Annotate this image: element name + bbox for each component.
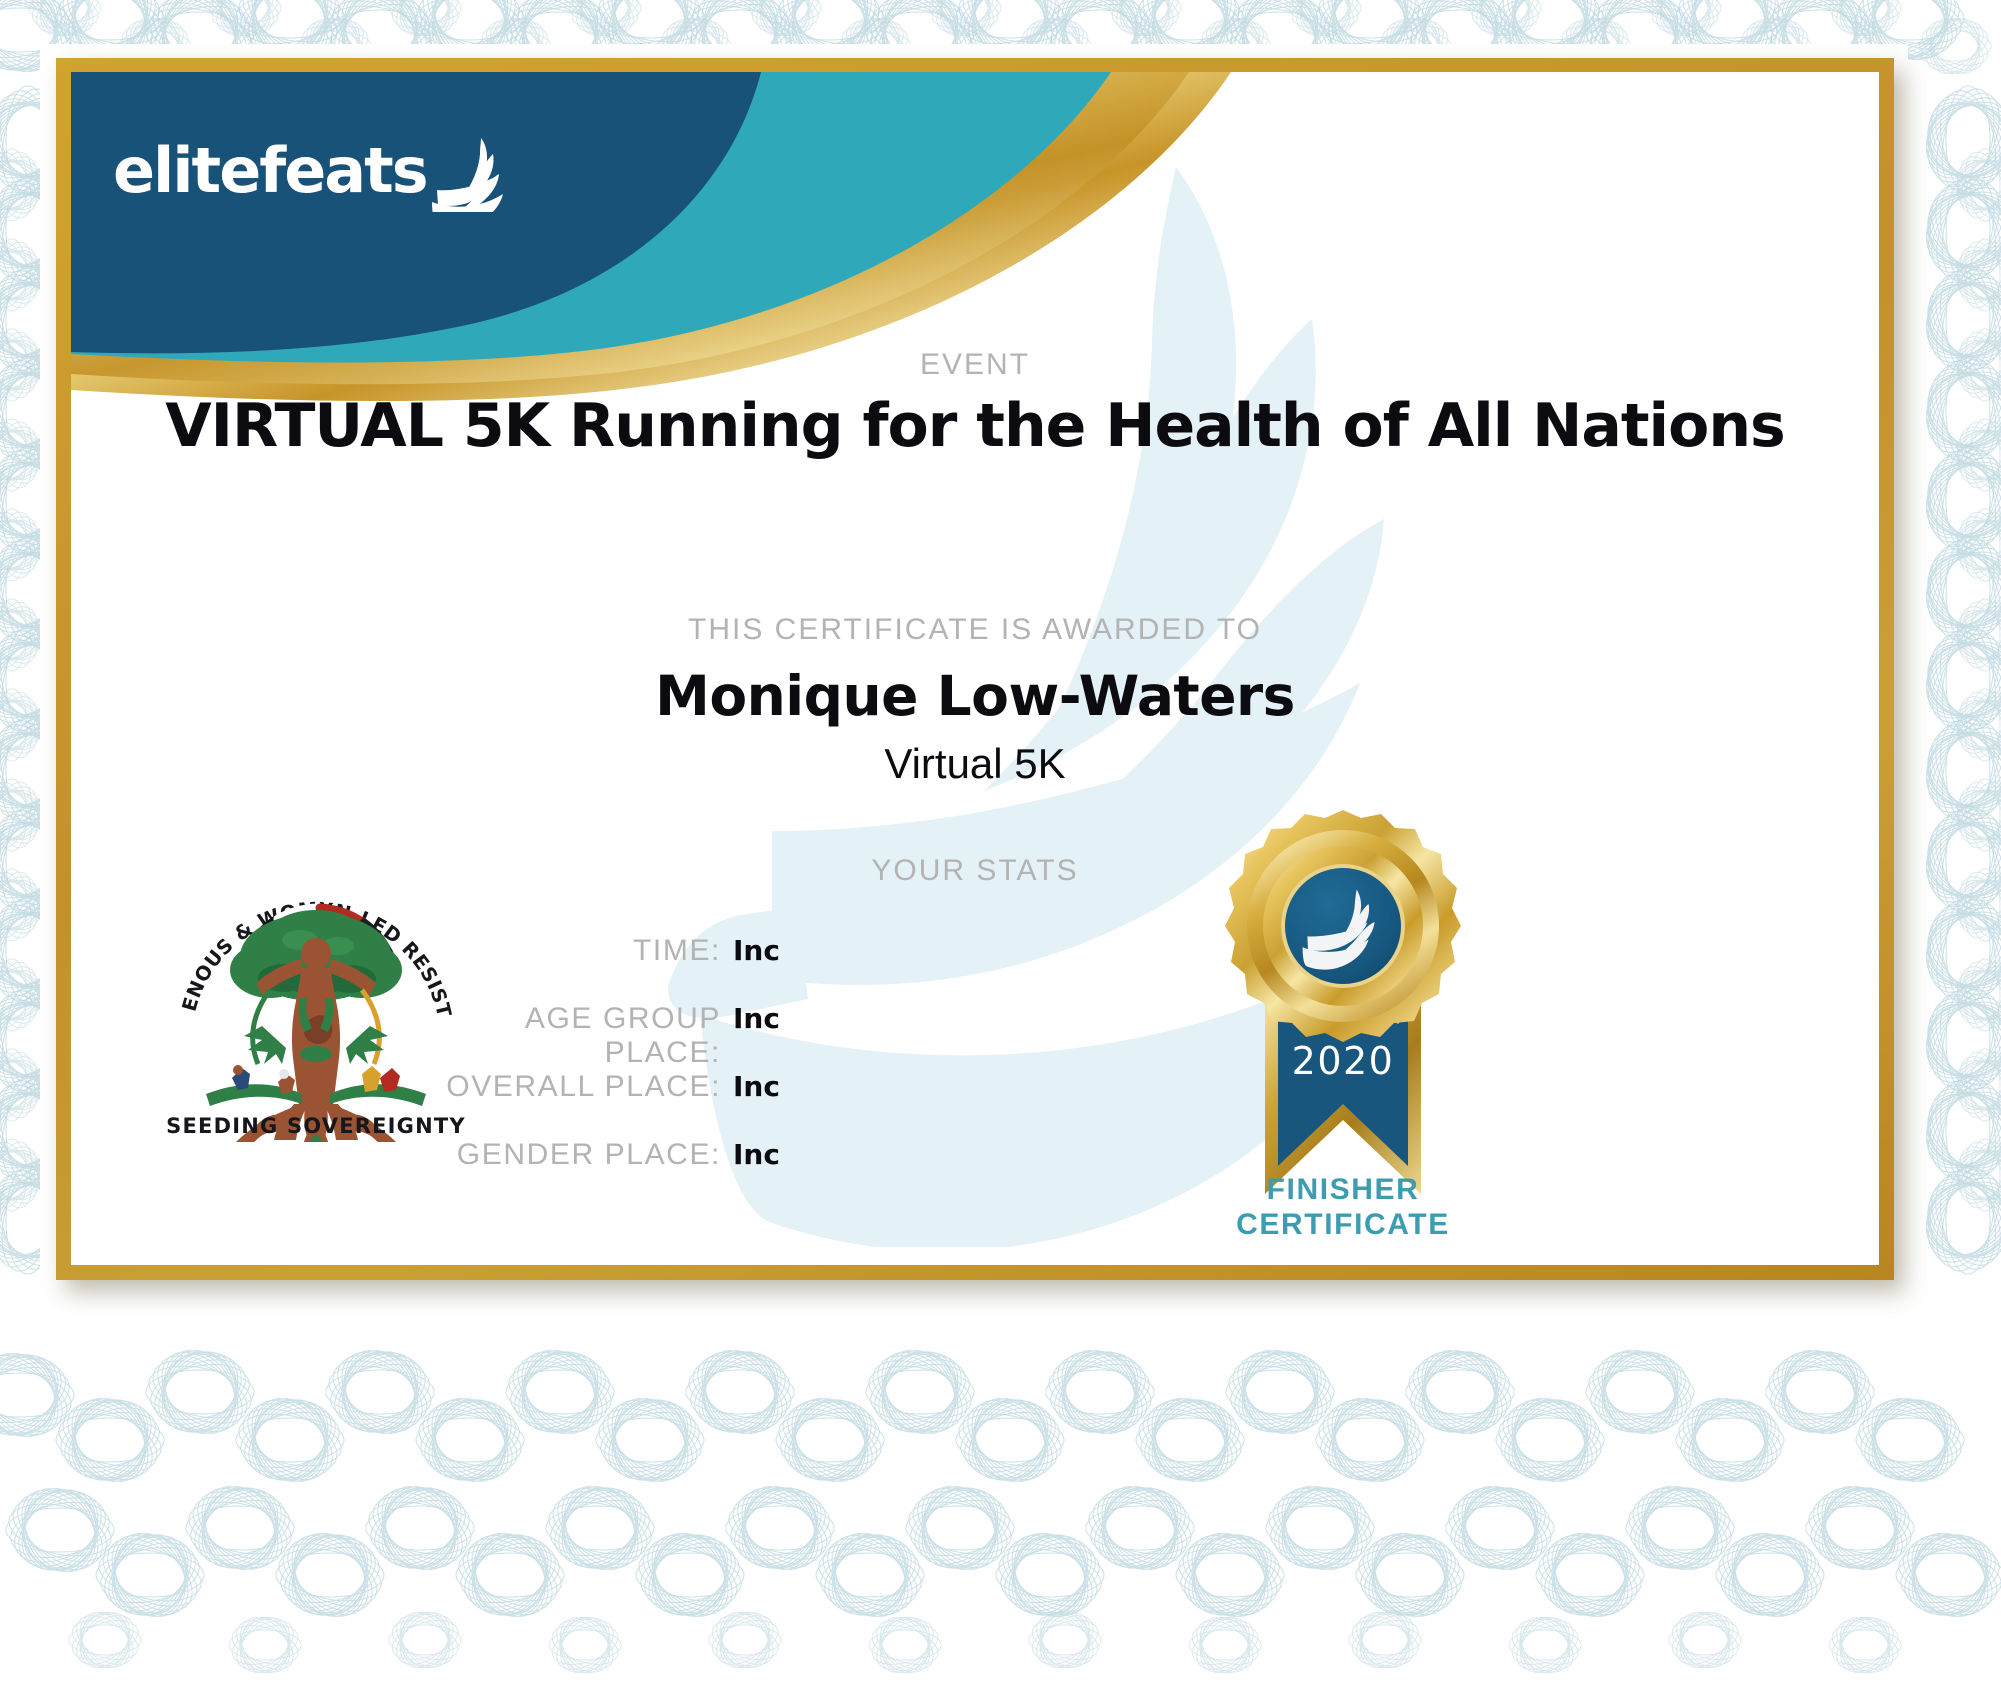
stat-value-overall-place: Inc [733,1070,780,1103]
awarded-to-label: THIS CERTIFICATE IS AWARDED TO [71,613,1879,647]
stat-row: AGE GROUP PLACE: Inc [401,1002,861,1056]
event-label: EVENT [71,348,1879,382]
certificate-gold-frame: elitefeats [56,58,1894,1280]
medal-caption: FINISHER CERTIFICATE [1163,1172,1523,1243]
certificate-body: EVENT VIRTUAL 5K Running for the Health … [71,72,1879,1265]
partner-name: SEEDING SOVEREIGNTY [166,1114,466,1138]
medal-caption-line1: FINISHER [1163,1172,1523,1207]
event-title: VIRTUAL 5K Running for the Health of All… [71,391,1879,461]
event-distance: Virtual 5K [71,740,1879,788]
certificate-sheet: elitefeats [71,72,1879,1265]
stat-value-time: Inc [733,934,780,967]
medal-caption-line2: CERTIFICATE [1163,1207,1523,1242]
medal-year: 2020 [1292,1039,1395,1083]
stat-key-gender-place: GENDER PLACE: [401,1138,721,1172]
stat-value-gender-place: Inc [733,1138,780,1171]
seeding-sovereignty-logo: INDIGENOUS & WOMXN-LED RESISTANCE [166,842,466,1142]
medal-disc [1225,810,1461,1042]
stat-row: TIME: Inc [401,934,861,988]
stat-row: GENDER PLACE: Inc [401,1138,861,1192]
finisher-medal: 2020 [1203,802,1483,1222]
stat-row: OVERALL PLACE: Inc [401,1070,861,1124]
awardee-name: Monique Low-Waters [71,664,1879,728]
stat-value-age-group-place: Inc [733,1002,780,1035]
stats-list: TIME: Inc AGE GROUP PLACE: Inc OVERALL P… [401,934,861,1206]
certificate-page: elitefeats [0,0,2001,1700]
